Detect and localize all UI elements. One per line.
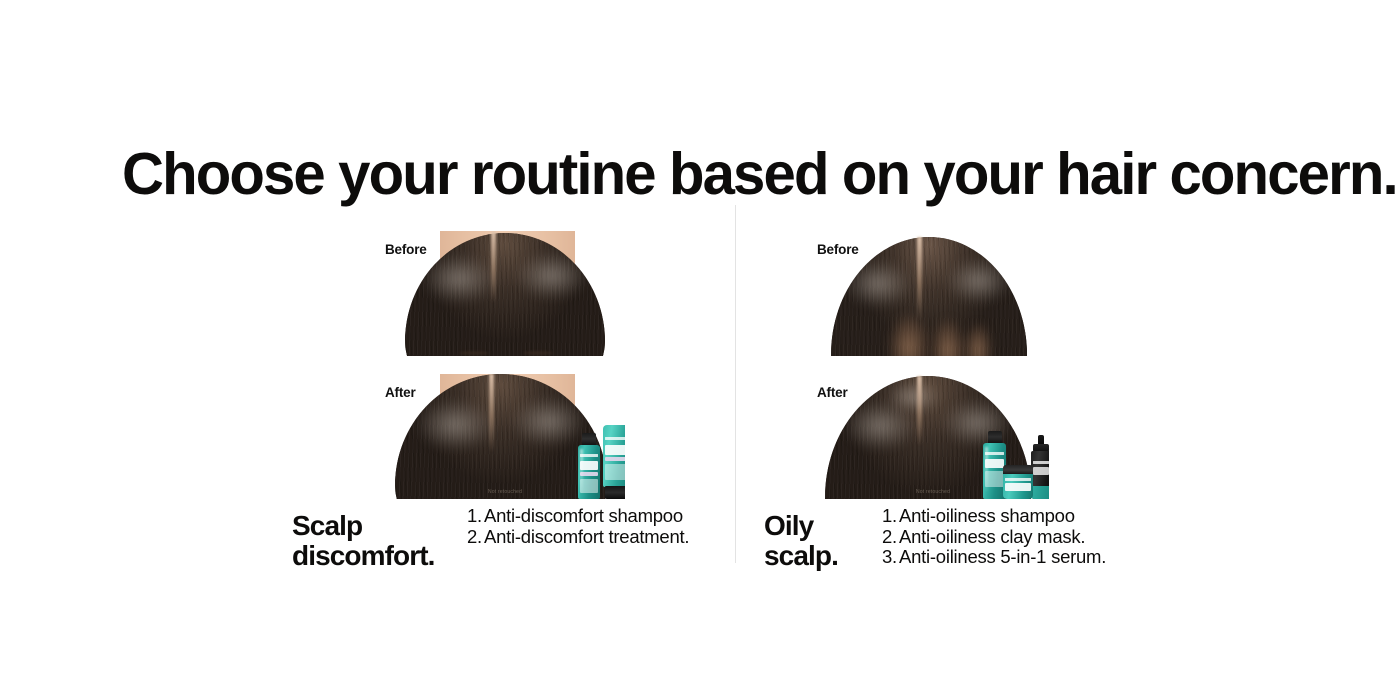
routine-block-oily-scalp: Oily scalp. 1.Anti-oiliness shampoo 2.An… bbox=[764, 503, 1174, 571]
concern-title-oily-scalp: Oily scalp. bbox=[764, 503, 882, 571]
anti-discomfort-treatment-tube[interactable] bbox=[603, 425, 625, 499]
routine-item-number: 3. bbox=[882, 547, 899, 568]
list-item: 2.Anti-oiliness clay mask. bbox=[882, 527, 1106, 548]
anti-oiliness-serum-bottle[interactable] bbox=[1031, 435, 1049, 499]
before-block: Before bbox=[385, 231, 625, 356]
routine-item-text: Anti-oiliness shampoo bbox=[899, 505, 1075, 526]
routine-list-scalp-discomfort: 1.Anti-discomfort shampoo 2.Anti-discomf… bbox=[467, 503, 689, 547]
after-label: After bbox=[817, 386, 848, 400]
after-block: After bbox=[385, 374, 625, 499]
page-title: Choose your routine based on your hair c… bbox=[122, 143, 1304, 205]
list-item: 1.Anti-discomfort shampoo bbox=[467, 506, 689, 527]
concern-title-scalp-discomfort: Scalp discomfort. bbox=[292, 503, 467, 571]
product-group-scalp-discomfort bbox=[578, 425, 625, 499]
concern-title-line2: scalp. bbox=[764, 541, 882, 571]
routine-item-number: 1. bbox=[882, 506, 899, 527]
routine-item-number: 2. bbox=[467, 527, 484, 548]
list-item: 1.Anti-oiliness shampoo bbox=[882, 506, 1106, 527]
panel-divider bbox=[735, 205, 736, 563]
routine-item-text: Anti-discomfort shampoo bbox=[484, 505, 683, 526]
after-block: After bbox=[817, 374, 1049, 499]
list-item: 2.Anti-discomfort treatment. bbox=[467, 527, 689, 548]
list-item: 3.Anti-oiliness 5-in-1 serum. bbox=[882, 547, 1106, 568]
before-label: Before bbox=[817, 243, 859, 257]
concern-title-line1: Scalp bbox=[292, 511, 467, 541]
anti-oiliness-clay-mask-jar[interactable] bbox=[1003, 465, 1033, 499]
routine-item-number: 1. bbox=[467, 506, 484, 527]
after-photo-oily-scalp: Not retouched bbox=[817, 374, 1049, 499]
routine-item-text: Anti-discomfort treatment. bbox=[484, 526, 689, 547]
before-block: Before bbox=[817, 231, 1039, 356]
concern-title-line1: Oily bbox=[764, 511, 882, 541]
routine-item-number: 2. bbox=[882, 527, 899, 548]
concern-title-line2: discomfort. bbox=[292, 541, 467, 571]
routine-item-text: Anti-oiliness clay mask. bbox=[899, 526, 1085, 547]
routine-item-text: Anti-oiliness 5-in-1 serum. bbox=[899, 546, 1106, 567]
product-group-oily-scalp bbox=[983, 431, 1049, 499]
routine-list-oily-scalp: 1.Anti-oiliness shampoo 2.Anti-oiliness … bbox=[882, 503, 1106, 568]
anti-discomfort-shampoo-bottle[interactable] bbox=[578, 433, 600, 499]
routine-block-scalp-discomfort: Scalp discomfort. 1.Anti-discomfort sham… bbox=[292, 503, 722, 571]
after-label: After bbox=[385, 386, 416, 400]
before-label: Before bbox=[385, 243, 427, 257]
after-photo-scalp-discomfort: Not retouched bbox=[385, 374, 625, 499]
